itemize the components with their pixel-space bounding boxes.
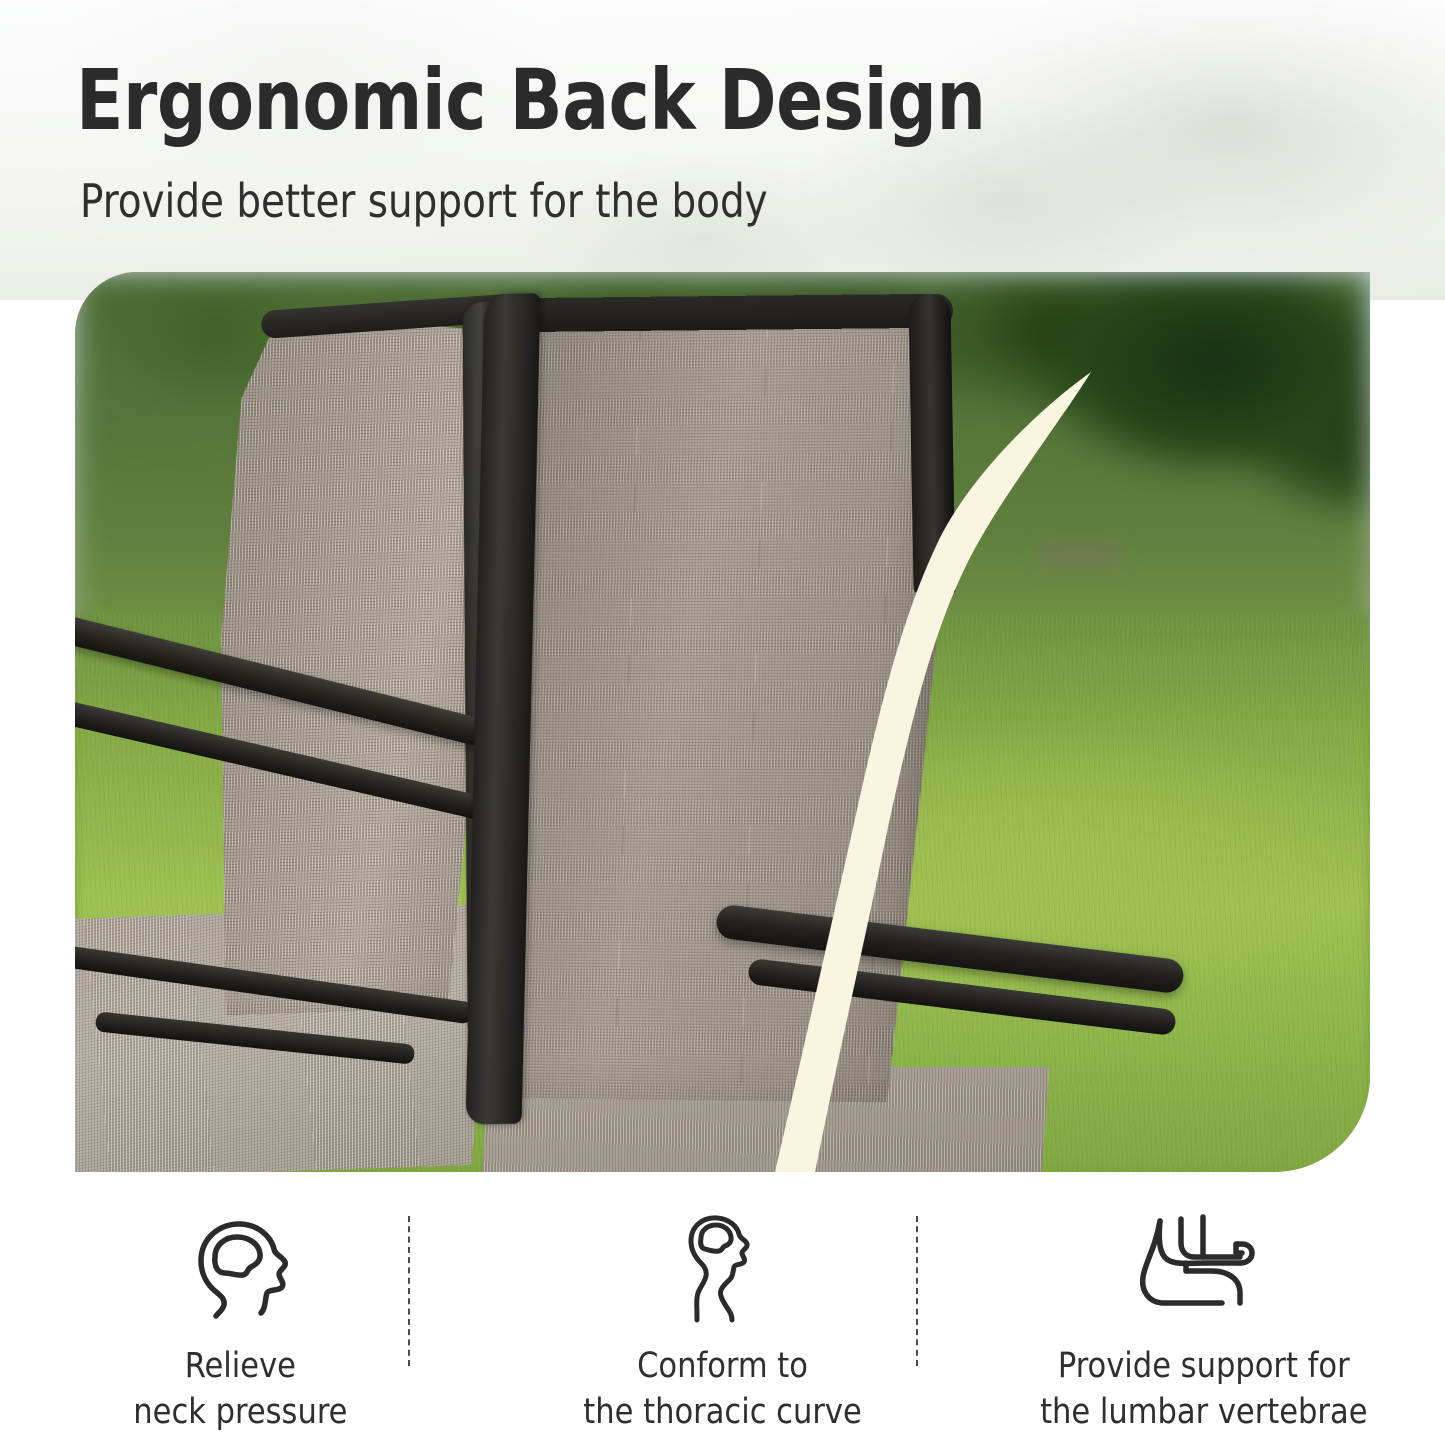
header-background-veil [0, 0, 1445, 300]
seated-person-chair-icon [1136, 1210, 1272, 1328]
head-brain-icon [179, 1210, 303, 1328]
feature-item-thoracic: Conform to the thoracic curve [482, 1180, 964, 1435]
feature-label: Relieve neck pressure [134, 1344, 348, 1435]
feature-label: Conform to the thoracic curve [583, 1344, 861, 1435]
background-bench [1040, 542, 1120, 568]
chair-front-top-cap [493, 294, 953, 333]
feature-label: Provide support for the lumbar vertebrae [1040, 1344, 1367, 1435]
head-torso-posture-icon [675, 1210, 771, 1328]
hero-product-photo [75, 272, 1370, 1172]
page-title: Ergonomic Back Design [76, 58, 986, 142]
page-subtitle: Provide better support for the body [80, 178, 768, 224]
feature-item-lumbar: Provide support for the lumbar vertebrae [963, 1180, 1445, 1435]
feature-item-neck: Relieve neck pressure [0, 1180, 482, 1435]
chair-front-side-rail-right [908, 293, 955, 595]
product-feature-card: Ergonomic Back Design Provide better sup… [0, 0, 1445, 1445]
feature-row: Relieve neck pressure Conform to the tho… [0, 1180, 1445, 1445]
